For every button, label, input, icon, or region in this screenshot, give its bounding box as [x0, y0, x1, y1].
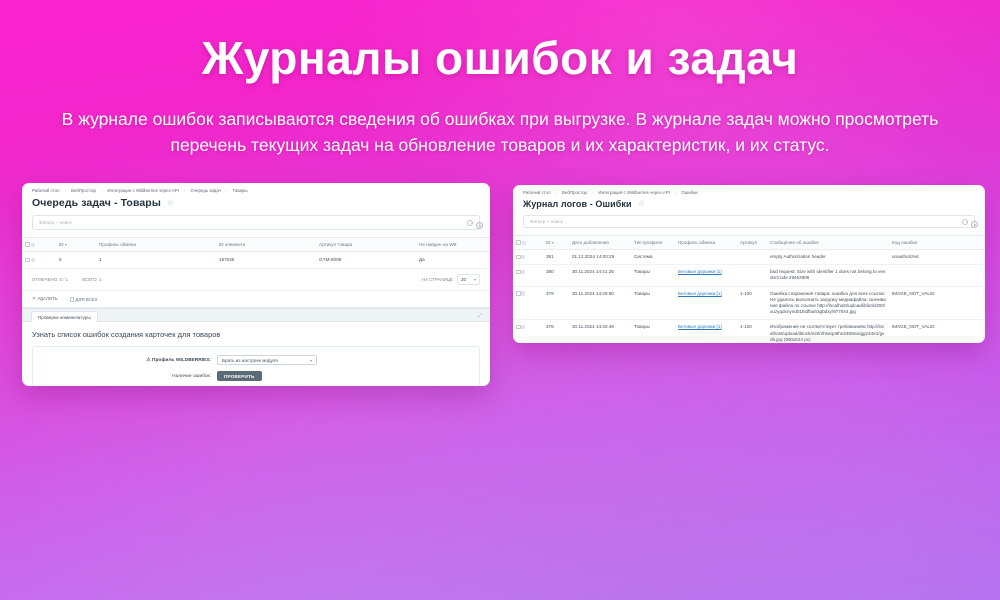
- table-body: 8 1 197046 GYM-8009 Да: [22, 252, 490, 269]
- cell-message: Ошибка сохранения товара: ошибка для все…: [767, 286, 889, 320]
- breadcrumb-separator-icon: ›: [226, 188, 227, 193]
- column-label: ID: [59, 242, 64, 247]
- profile-label: ⚠ Профиль WILDBERRIES:: [33, 358, 211, 363]
- cell-profile: [675, 250, 737, 265]
- bulk-actions-bar: ✕ УДАЛИТЬ ДЛЯ ВСЕХ: [22, 291, 490, 308]
- for-all-checkbox[interactable]: [70, 297, 75, 302]
- row-select: [513, 286, 543, 320]
- page-title: Журналы ошибок и задач: [0, 34, 1000, 84]
- column-label: ID: [546, 240, 551, 245]
- row-select: [513, 320, 543, 343]
- cell-id: 381: [543, 250, 569, 265]
- hero-section: Журналы ошибок и задач В журнале ошибок …: [0, 0, 1000, 158]
- breadcrumb-separator-icon: ›: [184, 188, 185, 193]
- chevron-down-icon: ▾: [552, 240, 554, 245]
- select-all-checkbox[interactable]: [516, 240, 521, 245]
- gear-icon[interactable]: [971, 221, 978, 228]
- chevron-down-icon: ▾: [310, 358, 312, 363]
- profile-select-value: Брать из настроек модуля: [222, 358, 278, 363]
- delete-button[interactable]: ✕ УДАЛИТЬ: [32, 296, 58, 302]
- tab-strip: Проверка номенклатуры ⤢: [22, 308, 490, 322]
- column-message[interactable]: Сообщение об ошибке: [767, 236, 889, 250]
- column-article[interactable]: Артикул: [737, 236, 767, 250]
- cell-article: [737, 250, 767, 265]
- row-checkbox[interactable]: [516, 255, 521, 260]
- cell-date: 30.11.2024 14:40:49: [569, 320, 631, 343]
- select-all-checkbox[interactable]: [25, 242, 30, 247]
- logs-table: ID ▾ Дата добавления Тип профиля Профиль…: [513, 235, 985, 343]
- error-logs-panel: Рабочий стол › ВебПростор › Интеграция с…: [513, 185, 985, 343]
- column-profile[interactable]: Профиль обмена: [96, 238, 216, 252]
- cell-article: 1-100: [737, 286, 767, 320]
- row-menu-icon[interactable]: [31, 258, 36, 263]
- row-select: [513, 265, 543, 286]
- errors-label: Наличие ошибок:: [33, 374, 211, 379]
- cell-profile[interactable]: Беговые дорожки [1]: [675, 265, 737, 286]
- cell-message: empty Authorization header: [767, 250, 889, 265]
- row-checkbox[interactable]: [516, 325, 521, 330]
- total-count: ВСЕГО: 1: [82, 277, 101, 282]
- breadcrumb-item[interactable]: ВебПростор: [562, 190, 587, 195]
- profile-link[interactable]: Беговые дорожки [1]: [678, 324, 722, 329]
- tasks-queue-panel: Рабочий стол › ВебПростор › Интеграция с…: [22, 183, 490, 386]
- breadcrumb: Рабочий стол › ВебПростор › Интеграция с…: [513, 185, 985, 198]
- row-checkbox[interactable]: [516, 291, 521, 296]
- cell-article: 1-100: [737, 320, 767, 343]
- breadcrumb-item[interactable]: Очередь задач: [190, 188, 221, 193]
- check-form: ⚠ Профиль WILDBERRIES: Брать из настроек…: [32, 346, 480, 386]
- per-page-select[interactable]: 20 ▾: [457, 274, 480, 285]
- column-id[interactable]: ID ▾: [56, 238, 96, 252]
- table-row[interactable]: 37830.11.2024 14:40:49ТоварыБеговые доро…: [513, 320, 985, 343]
- chevron-down-icon: ▾: [65, 242, 67, 247]
- panel-header: Очередь задач - Товары ☆: [22, 196, 490, 215]
- search-placeholder: Фильтр + поиск: [39, 220, 72, 225]
- breadcrumb-item[interactable]: ВебПростор: [71, 188, 96, 193]
- tasks-table: ID ▾ Профиль обмена ID элемента Артикул …: [22, 237, 490, 269]
- grip-icon[interactable]: [522, 241, 527, 246]
- cell-not-found: Да: [416, 252, 490, 269]
- row-select: [22, 252, 56, 269]
- column-article[interactable]: Артикул товара: [316, 238, 416, 252]
- table-row[interactable]: 38030.11.2024 14:41:26ТоварыБеговые доро…: [513, 265, 985, 286]
- cell-profile: 1: [96, 252, 216, 269]
- profile-select[interactable]: Брать из настроек модуля ▾: [217, 355, 317, 365]
- search-icon[interactable]: [467, 220, 473, 226]
- cell-article: GYM-8009: [316, 252, 416, 269]
- table-header: ID ▾ Дата добавления Тип профиля Профиль…: [513, 236, 985, 250]
- chevron-down-icon: ▾: [474, 277, 476, 282]
- expand-icon[interactable]: ⤢: [478, 313, 482, 319]
- table-row[interactable]: 37930.11.2024 14:40:50ТоварыБеговые доро…: [513, 286, 985, 320]
- cell-date: 30.11.2024 14:40:50: [569, 286, 631, 320]
- panel-header: Журнал логов - Ошибки ☆: [513, 198, 985, 215]
- breadcrumb-separator-icon: ›: [556, 190, 557, 195]
- table-footer: ОТМЕЧЕНО: 0 / 1 ВСЕГО: 1 НА СТРАНИЦЕ 20 …: [22, 269, 490, 291]
- breadcrumb-separator-icon: ›: [65, 188, 66, 193]
- breadcrumb: Рабочий стол › ВебПростор › Интеграция с…: [22, 183, 490, 196]
- section-title: Узнать список ошибок создания карточек д…: [22, 322, 490, 346]
- page-root: Журналы ошибок и задач В журнале ошибок …: [0, 0, 1000, 600]
- for-all-toggle[interactable]: ДЛЯ ВСЕХ: [70, 297, 98, 302]
- form-row-errors: Наличие ошибок: ПРОВЕРИТЬ: [33, 371, 479, 381]
- breadcrumb-item[interactable]: Рабочий стол: [523, 190, 551, 195]
- cell-date: 01.12.2024 14:00:29: [569, 250, 631, 265]
- breadcrumb-separator-icon: ›: [101, 188, 102, 193]
- breadcrumb-separator-icon: ›: [675, 190, 676, 195]
- breadcrumb-item[interactable]: Товары: [232, 188, 247, 193]
- breadcrumb-item[interactable]: Интеграция с Wildberries через API: [598, 190, 669, 195]
- cell-element-id: 197046: [216, 252, 316, 269]
- cell-profile-type: Товары: [631, 286, 675, 320]
- column-profile-type[interactable]: Тип профиля: [631, 236, 675, 250]
- per-page-control: НА СТРАНИЦЕ 20 ▾: [422, 274, 480, 285]
- column-element-id[interactable]: ID элемента: [216, 238, 316, 252]
- page-subtitle: В журнале ошибок записываются сведения о…: [50, 106, 950, 159]
- breadcrumb-separator-icon: ›: [592, 190, 593, 195]
- form-row-profile: ⚠ Профиль WILDBERRIES: Брать из настроек…: [33, 355, 479, 365]
- warning-icon: ⚠: [146, 358, 150, 363]
- search-icon[interactable]: [962, 219, 968, 225]
- delete-label: УДАЛИТЬ: [37, 296, 57, 301]
- cell-profile[interactable]: Беговые дорожки [1]: [675, 320, 737, 343]
- row-select: [513, 250, 543, 265]
- row-menu-icon[interactable]: [521, 291, 526, 296]
- star-icon[interactable]: ☆: [638, 200, 645, 208]
- table-row[interactable]: 8 1 197046 GYM-8009 Да: [22, 252, 490, 269]
- cell-error-code: IMAGE_NOT_VALID: [889, 286, 985, 320]
- column-profile[interactable]: Профиль обмена: [675, 236, 737, 250]
- column-select: [513, 236, 543, 250]
- column-select: [22, 238, 56, 252]
- selected-count: ОТМЕЧЕНО: 0 / 1: [32, 277, 68, 282]
- table-body: 38101.12.2024 14:00:29Системаempty Autho…: [513, 250, 985, 343]
- star-icon[interactable]: ☆: [167, 199, 174, 207]
- cell-id: 379: [543, 286, 569, 320]
- cell-profile-type: Система: [631, 250, 675, 265]
- column-id[interactable]: ID ▾: [543, 236, 569, 250]
- cell-date: 30.11.2024 14:41:26: [569, 265, 631, 286]
- column-not-found[interactable]: Не найден на WB: [416, 238, 490, 252]
- row-checkbox[interactable]: [516, 270, 521, 275]
- search-input[interactable]: Фильтр + поиск: [32, 215, 480, 230]
- per-page-value: 20: [461, 277, 466, 282]
- cell-id: 8: [56, 252, 96, 269]
- for-all-label: ДЛЯ ВСЕХ: [75, 297, 97, 302]
- profile-label-text: Профиль WILDBERRIES:: [152, 358, 211, 363]
- search-input[interactable]: Фильтр + поиск: [523, 215, 975, 228]
- column-date[interactable]: Дата добавления: [569, 236, 631, 250]
- cell-profile-type: Товары: [631, 320, 675, 343]
- cell-profile-type: Товары: [631, 265, 675, 286]
- panel-title: Журнал логов - Ошибки: [523, 199, 632, 209]
- panel-title: Очередь задач - Товары: [32, 197, 161, 209]
- tab-nomenclature-check[interactable]: Проверка номенклатуры: [31, 311, 98, 322]
- cell-message: bad request: Size with identifier 1 does…: [767, 265, 889, 286]
- breadcrumb-item[interactable]: Рабочий стол: [32, 188, 60, 193]
- search-placeholder: Фильтр + поиск: [530, 219, 563, 224]
- close-icon: ✕: [32, 296, 36, 302]
- cell-error-code: unauthorized: [889, 250, 985, 265]
- table-header-row: ID ▾ Дата добавления Тип профиля Профиль…: [513, 236, 985, 250]
- cell-message: Изображение не соответствует требованиям…: [767, 320, 889, 343]
- cell-id: 378: [543, 320, 569, 343]
- cell-id: 380: [543, 265, 569, 286]
- cell-error-code: IMAGE_NOT_VALID: [889, 320, 985, 343]
- profile-link[interactable]: Беговые дорожки [1]: [678, 291, 722, 296]
- grip-icon[interactable]: [31, 243, 36, 248]
- check-button[interactable]: ПРОВЕРИТЬ: [217, 371, 262, 381]
- gear-icon[interactable]: [476, 222, 483, 229]
- breadcrumb-item[interactable]: Интеграция с Wildberries через API: [107, 188, 178, 193]
- per-page-label: НА СТРАНИЦЕ: [422, 277, 453, 282]
- row-menu-icon[interactable]: [521, 255, 526, 260]
- column-error-code[interactable]: Код ошибки: [889, 236, 985, 250]
- row-menu-icon[interactable]: [521, 270, 526, 275]
- row-checkbox[interactable]: [25, 258, 30, 263]
- breadcrumb-item[interactable]: Ошибки: [681, 190, 697, 195]
- table-header: ID ▾ Профиль обмена ID элемента Артикул …: [22, 238, 490, 252]
- cell-article: [737, 265, 767, 286]
- row-menu-icon[interactable]: [521, 325, 526, 330]
- table-row[interactable]: 38101.12.2024 14:00:29Системаempty Autho…: [513, 250, 985, 265]
- table-header-row: ID ▾ Профиль обмена ID элемента Артикул …: [22, 238, 490, 252]
- cell-error-code: [889, 265, 985, 286]
- profile-link[interactable]: Беговые дорожки [1]: [678, 269, 722, 274]
- cell-profile[interactable]: Беговые дорожки [1]: [675, 286, 737, 320]
